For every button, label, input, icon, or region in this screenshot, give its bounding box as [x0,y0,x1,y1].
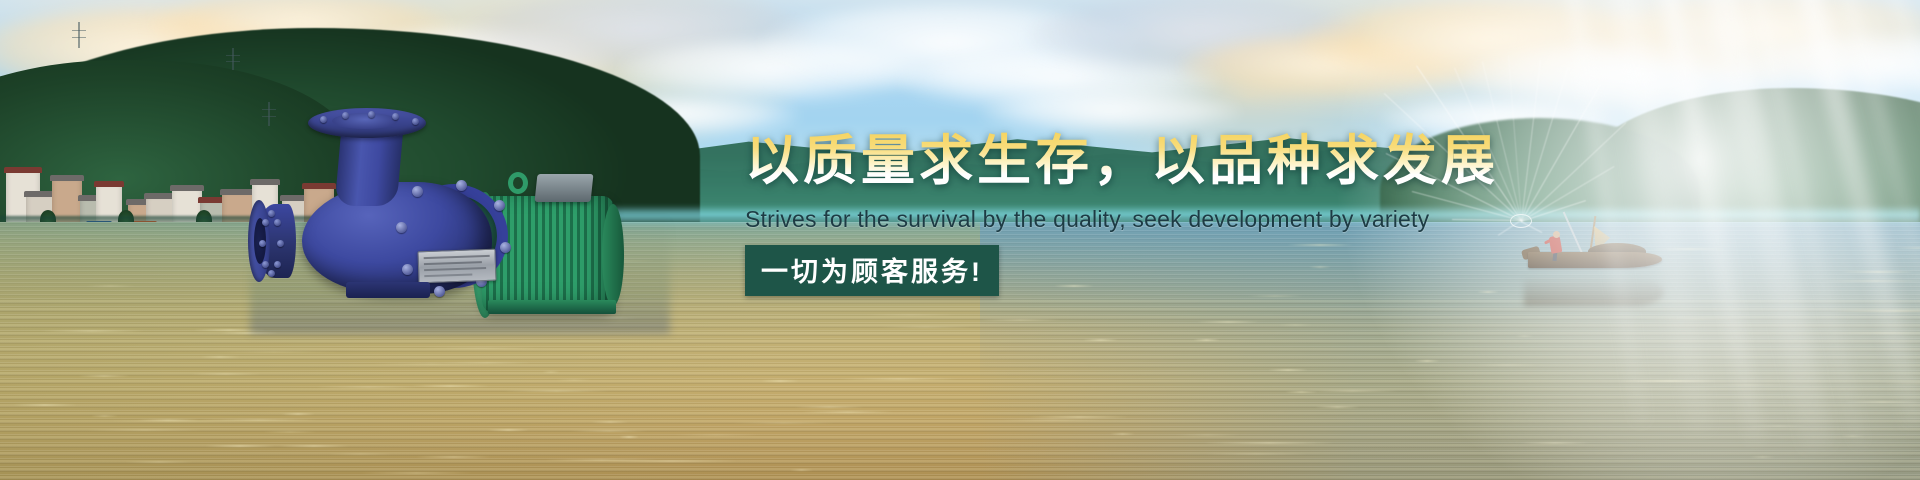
banner-subline: Strives for the survival by the quality,… [745,206,1505,233]
hero-banner: 以质量求生存，以品种求发展 Strives for the survival b… [0,0,1920,480]
banner-text-block: 以质量求生存，以品种求发展 Strives for the survival b… [745,130,1505,296]
banner-headline: 以质量求生存，以品种求发展 [745,130,1505,192]
banner-badge: 一切为顾客服务! [745,245,999,296]
